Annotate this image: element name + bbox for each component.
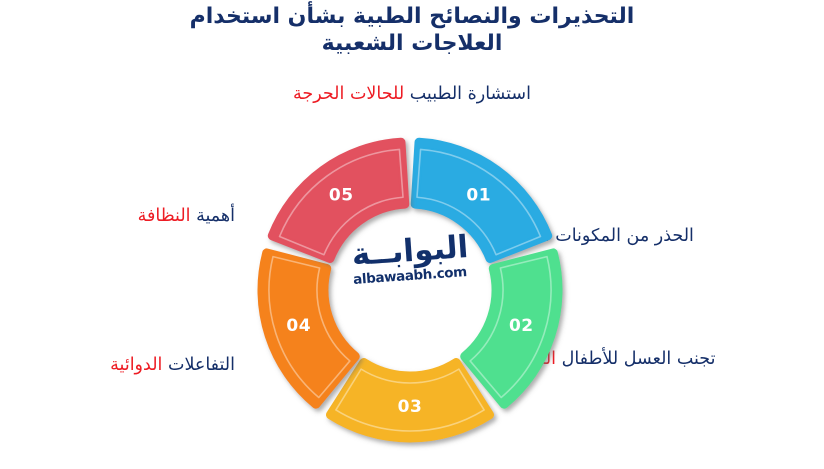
segment-number-01: 01: [466, 185, 491, 205]
callout-label-01: استشارة الطبيب للحالات الحرجة: [0, 84, 824, 106]
donut-chart: 0102030405: [235, 118, 585, 463]
callout-label-04: التفاعلات الدوائية: [20, 355, 235, 377]
page-title-line1: التحذيرات والنصائح الطبية بشأن استخدام: [190, 4, 635, 29]
segment-number-02: 02: [509, 316, 534, 336]
callout-label-01-plain: استشارة الطبيب: [410, 84, 531, 104]
page-title: التحذيرات والنصائح الطبية بشأن استخدام ا…: [0, 4, 824, 58]
callout-label-05: أهمية النظافة: [20, 206, 235, 228]
callout-label-01-highlight: للحالات الحرجة: [293, 84, 404, 104]
callout-label-04-plain: التفاعلات: [168, 355, 235, 375]
segment-number-04: 04: [286, 316, 311, 336]
page-title-line2: العلاجات الشعبية: [322, 31, 503, 56]
callout-label-05-highlight: النظافة: [138, 206, 191, 226]
segment-number-05: 05: [329, 185, 354, 205]
infographic-canvas: التحذيرات والنصائح الطبية بشأن استخدام ا…: [0, 0, 824, 469]
segment-number-03: 03: [398, 397, 423, 417]
callout-label-04-highlight: الدوائية: [110, 355, 162, 375]
callout-label-05-plain: أهمية: [196, 206, 235, 226]
